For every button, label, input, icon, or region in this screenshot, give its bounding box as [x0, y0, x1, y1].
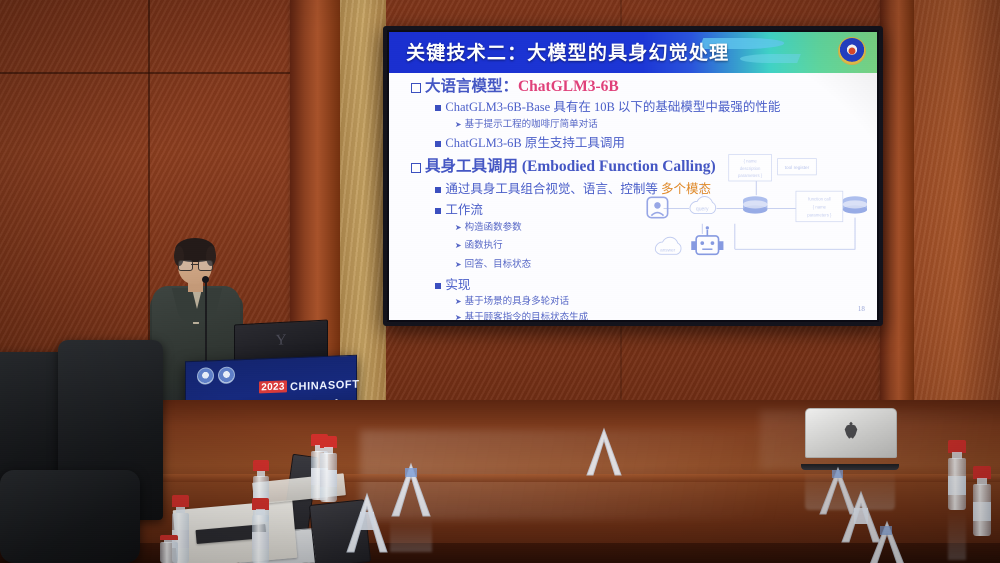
function-calling-flow-diagram: query { name description parameters } to… — [633, 122, 867, 295]
projection-screen: 关键技术二：大模型的具身幻觉处理 — [383, 26, 883, 326]
microphone-stem — [205, 282, 207, 364]
svg-text:{ name: { name — [743, 159, 757, 164]
slide-title: 关键技术二：大模型的具身幻觉处理 — [406, 38, 729, 65]
filled-square-icon — [435, 208, 441, 214]
bullet-l3: ➤构造函数参数 — [455, 224, 522, 234]
arrow-bullet-icon: ➤ — [455, 314, 462, 320]
filled-square-icon — [435, 283, 441, 289]
presentation-scene: 关键技术二：大模型的具身幻觉处理 — [0, 0, 1000, 563]
water-bottle[interactable] — [160, 535, 178, 563]
hollow-square-icon — [411, 163, 421, 173]
highlight-text: ChatGLM3-6B — [518, 78, 619, 95]
bullet-l2: 工作流 — [435, 204, 483, 217]
svg-text:{ name: { name — [813, 205, 827, 210]
bullet-l3: ➤基于顾客指令的目标状态生成 — [455, 314, 588, 320]
year-badge: 2023 — [259, 380, 287, 393]
bullet-l3: ➤基于场景的具身多轮对话 — [455, 298, 569, 308]
wall-panel-light — [340, 0, 386, 400]
apple-logo-icon — [844, 422, 859, 439]
svg-text:function call: function call — [808, 197, 831, 202]
glasses-icon — [198, 260, 213, 271]
water-bottle[interactable] — [973, 466, 991, 536]
bullet-l2: ChatGLM3-6B-Base 具有在 10B 以下的基础模型中最强的性能 — [435, 101, 780, 114]
svg-text:parameters }: parameters } — [807, 213, 832, 218]
wall-panel — [914, 0, 1000, 400]
glasses-icon — [178, 260, 193, 271]
leather-chair[interactable] — [0, 470, 140, 563]
apple-laptop[interactable] — [805, 408, 895, 470]
arrow-bullet-icon: ➤ — [455, 242, 462, 250]
hollow-square-icon — [411, 83, 421, 93]
svg-text:query: query — [696, 207, 709, 213]
slide-header: 关键技术二：大模型的具身幻觉处理 — [389, 32, 877, 73]
wall-pillar — [880, 0, 914, 400]
laptop-lid — [805, 408, 897, 458]
arrow-bullet-icon: ➤ — [455, 261, 462, 269]
highlight-text: 多个模态 — [661, 182, 711, 196]
name-card-holder[interactable] — [585, 427, 623, 477]
water-bottle[interactable] — [252, 498, 269, 563]
bullet-l2: 通过具身工具组合视觉、语言、控制等 多个模态 — [435, 183, 711, 196]
glasses-icon — [191, 264, 198, 265]
laptop-brand-icon: Y — [276, 332, 287, 350]
arrow-bullet-icon: ➤ — [455, 121, 462, 129]
svg-text:answer: answer — [660, 248, 676, 253]
society-emblem-right-icon — [218, 366, 235, 384]
slide-page-number: 18 — [858, 305, 865, 313]
arrow-bullet-icon: ➤ — [455, 298, 462, 306]
water-bottle[interactable] — [320, 436, 337, 502]
bullet-l3: ➤函数执行 — [455, 242, 503, 252]
conference-english-title: CHINASOFT — [290, 379, 360, 394]
microphone-icon — [202, 276, 209, 283]
filled-square-icon — [435, 141, 441, 147]
filled-square-icon — [435, 105, 441, 111]
filled-square-icon — [435, 187, 441, 193]
slide-body: query { name description parameters } to… — [389, 73, 877, 320]
bullet-l3: ➤基于提示工程的咖啡厅简单对话 — [455, 121, 598, 131]
name-card-holder[interactable] — [345, 492, 389, 554]
institution-emblem-icon — [838, 37, 866, 65]
bullet-l1: 大语言模型：ChatGLM3-6B — [411, 79, 619, 95]
arrow-bullet-icon: ➤ — [455, 224, 462, 232]
svg-text:description: description — [740, 166, 761, 171]
header-swoosh-icon — [739, 54, 801, 63]
name-card-holder[interactable] — [865, 520, 909, 563]
society-emblem-left-icon — [197, 367, 214, 385]
svg-text:parameters }: parameters } — [738, 173, 763, 178]
water-bottle[interactable] — [948, 440, 966, 510]
bullet-l2: ChatGLM3-6B 原生支持工具调用 — [435, 137, 625, 150]
svg-text:tool register: tool register — [785, 165, 810, 170]
table-front-edge — [0, 543, 1000, 563]
slide-surface: 关键技术二：大模型的具身幻觉处理 — [389, 32, 877, 320]
name-card-holder[interactable] — [390, 462, 432, 518]
bullet-l2: 实现 — [435, 279, 470, 292]
bullet-l3: ➤回答、目标状态 — [455, 261, 531, 271]
bullet-l1: 具身工具调用 (Embodied Function Calling) — [411, 159, 716, 175]
wall-seam — [0, 72, 290, 74]
